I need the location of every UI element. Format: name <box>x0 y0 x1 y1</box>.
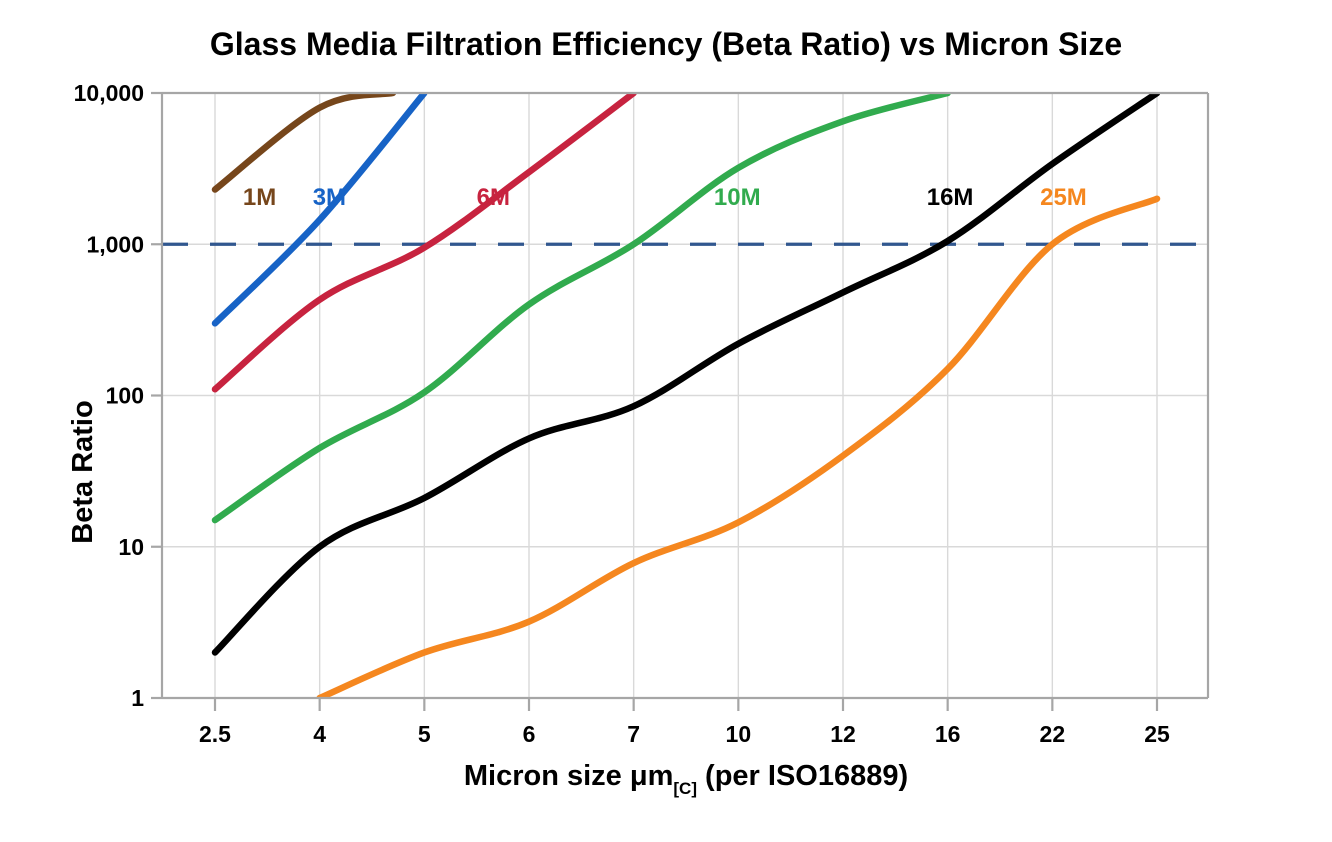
series-label-16M: 16M <box>927 184 974 211</box>
x-axis-title-main: Micron size μm <box>464 760 674 792</box>
series-label-6M: 6M <box>477 184 510 211</box>
x-tick-label: 7 <box>627 721 640 747</box>
y-tick-label: 1,000 <box>86 231 144 257</box>
x-axis-title: Micron size μm[C] (per ISO16889) <box>464 760 908 798</box>
y-tick-label: 10 <box>118 534 144 560</box>
svg-text:Micron size μm[C] (per ISO1688: Micron size μm[C] (per ISO16889) <box>464 760 908 798</box>
y-axis-title: Beta Ratio <box>67 400 99 543</box>
chart-title: Glass Media Filtration Efficiency (Beta … <box>210 26 1122 62</box>
x-tick-label: 22 <box>1040 721 1066 747</box>
x-tick-label: 10 <box>726 721 752 747</box>
x-tick-label: 2.5 <box>199 721 231 747</box>
series-inline-labels: 1M3M6M10M16M25M <box>243 184 1087 211</box>
chart-container: Glass Media Filtration Efficiency (Beta … <box>0 0 1332 842</box>
x-axis-tick-labels: 2.545671012162225 <box>199 721 1170 747</box>
x-tick-label: 16 <box>935 721 961 747</box>
series-line-1M <box>215 93 393 190</box>
series-label-3M: 3M <box>313 184 346 211</box>
x-tick-label: 5 <box>418 721 431 747</box>
y-tick-label: 100 <box>106 383 144 409</box>
y-tick-label: 1 <box>131 685 144 711</box>
x-tick-label: 6 <box>523 721 536 747</box>
x-tick-label: 12 <box>830 721 856 747</box>
x-tick-label: 25 <box>1144 721 1170 747</box>
y-tick-label: 10,000 <box>74 80 144 106</box>
x-tick-label: 4 <box>313 721 326 747</box>
series-label-10M: 10M <box>714 184 761 211</box>
series-label-1M: 1M <box>243 184 276 211</box>
x-axis-title-tail: (per ISO16889) <box>697 760 908 792</box>
series-label-25M: 25M <box>1040 184 1087 211</box>
beta-ratio-chart: Glass Media Filtration Efficiency (Beta … <box>0 0 1332 842</box>
y-axis-tick-labels: 1101001,00010,000 <box>74 80 145 711</box>
x-axis-title-subscript: [C] <box>673 779 697 798</box>
